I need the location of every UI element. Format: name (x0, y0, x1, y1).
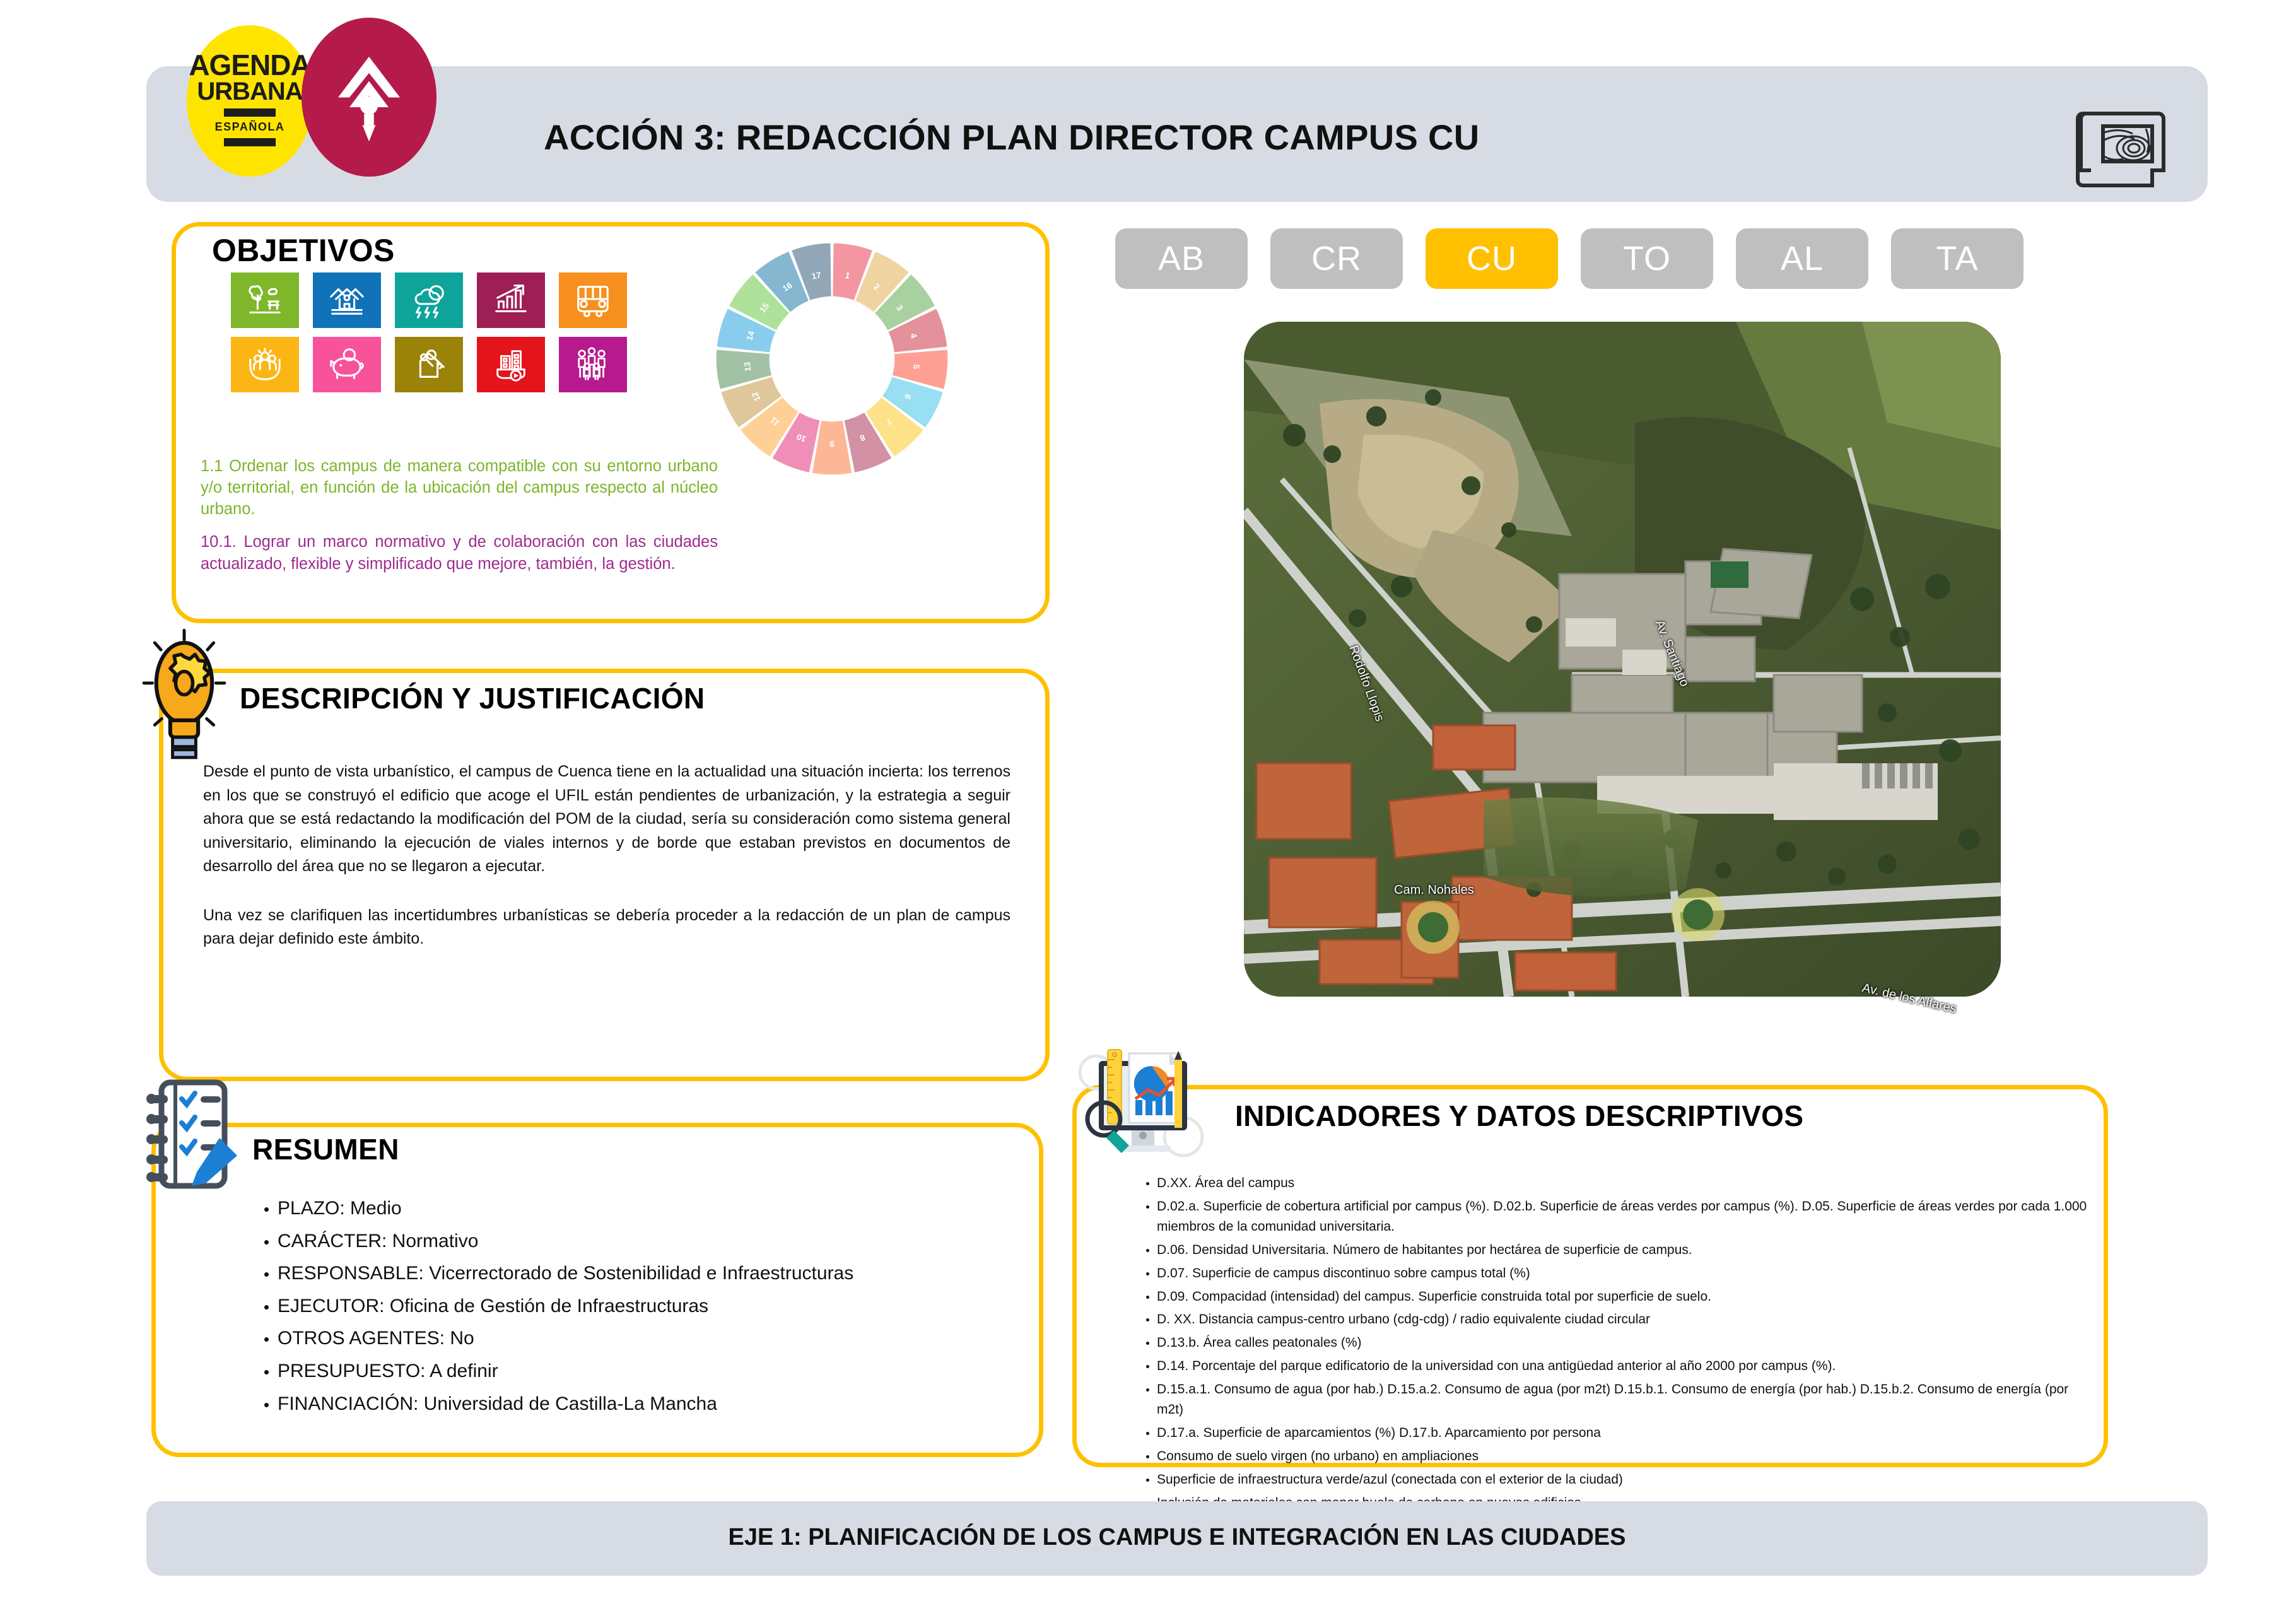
park-trees-icon (231, 272, 299, 328)
economy-growth-icon (477, 272, 545, 328)
climate-storm-icon (395, 272, 463, 328)
broadcast-icon (328, 49, 410, 146)
sdg-number-13: 13 (742, 361, 753, 372)
indicador-item: D.XX. Área del campus (1157, 1173, 2090, 1193)
descripcion-paragraph-2: Una vez se clarifiquen las incertidumbre… (203, 904, 1010, 951)
indicador-item: D. XX. Distancia campus-centro urbano (c… (1157, 1310, 2090, 1330)
objetivos-text: 1.1 Ordenar los campus de manera compati… (201, 455, 718, 586)
lightbulb-gear-icon (138, 626, 231, 761)
campus-tab-ab[interactable]: AB (1115, 228, 1248, 289)
indicador-item: D.14. Porcentaje del parque edificatorio… (1157, 1356, 2090, 1376)
governance-people-icon (559, 337, 627, 392)
mobility-bus-icon (559, 272, 627, 328)
indicador-item: D.15.a.1. Consumo de agua (por hab.) D.1… (1157, 1380, 2090, 1420)
digital-city-icon (477, 337, 545, 392)
page-title: ACCIÓN 3: REDACCIÓN PLAN DIRECTOR CAMPUS… (544, 117, 1931, 158)
resumen-title: RESUMEN (252, 1132, 399, 1166)
indicador-item: D.06. Densidad Universitaria. Número de … (1157, 1240, 2090, 1260)
descripcion-paragraph-1: Desde el punto de vista urbanístico, el … (203, 760, 1010, 879)
campus-tab-cu[interactable]: CU (1426, 228, 1558, 289)
resumen-item: OTROS AGENTES: No (278, 1322, 1034, 1355)
housing-icon (313, 272, 381, 328)
agenda-urbana-logo: AGENDA URBANA ESPAÑOLA (187, 25, 313, 177)
indicador-item: Consumo de suelo virgen (no urbano) en a… (1157, 1446, 2090, 1467)
indicador-item: D.09. Compacidad (intensidad) del campus… (1157, 1287, 2090, 1307)
campus-tab-al[interactable]: AL (1736, 228, 1868, 289)
indicador-item: Superficie de infraestructura verde/azul… (1157, 1470, 2090, 1490)
logo-divider-top (224, 108, 276, 117)
resumen-item: PRESUPUESTO: A definir (278, 1355, 1034, 1388)
monitor-chart-ruler-icon (1077, 1042, 1210, 1178)
footer-text: EJE 1: PLANIFICACIÓN DE LOS CAMPUS E INT… (146, 1524, 2208, 1551)
logo-line-2: URBANA (197, 79, 302, 104)
indicador-item: D.13.b. Área calles peatonales (%) (1157, 1333, 2090, 1353)
objetivos-title: OBJETIVOS (212, 232, 395, 269)
objetivo-1-1: 1.1 Ordenar los campus de manera compati… (201, 455, 718, 520)
resumen-item: EJECUTOR: Oficina de Gestión de Infraest… (278, 1290, 1034, 1323)
savings-piggy-icon (313, 337, 381, 392)
sdg-wheel-icon: 1234567891011121314151617 (712, 238, 952, 479)
resumen-item: RESPONSABLE: Vicerrectorado de Sostenibi… (278, 1257, 1034, 1290)
indicador-item: D.07. Superficie de campus discontinuo s… (1157, 1263, 2090, 1284)
campus-tabs[interactable]: ABCRCUTOALTA (1115, 228, 2024, 289)
logo-divider-bottom (224, 138, 276, 146)
descripcion-title: DESCRIPCIÓN Y JUSTIFICACIÓN (240, 681, 705, 715)
indicador-item: D.17.a. Superficie de aparcamientos (%) … (1157, 1423, 2090, 1443)
sdg-number-17: 17 (811, 270, 822, 281)
notepad-checklist-icon (143, 1077, 243, 1191)
objetivo-10-1: 10.1. Lograr un marco normativo y de col… (201, 531, 718, 574)
logo-line-1: AGENDA (189, 52, 310, 78)
resumen-item: CARÁCTER: Normativo (278, 1225, 1034, 1258)
social-care-icon (231, 337, 299, 392)
campus-tab-to[interactable]: TO (1581, 228, 1713, 289)
sdg-number-9: 9 (829, 439, 834, 448)
objetivos-icon-grid (231, 272, 627, 392)
resumen-item: PLAZO: Medio (278, 1192, 1034, 1225)
housing-keys-icon (395, 337, 463, 392)
broadcast-logo (302, 18, 436, 177)
indicadores-list: D.XX. Área del campusD.02.a. Superficie … (1129, 1173, 2090, 1516)
blueprint-icon (2051, 101, 2177, 208)
map-label-cam-nohales: Cam. Nohales (1394, 883, 1474, 898)
resumen-item: FINANCIACIÓN: Universidad de Castilla-La… (278, 1388, 1034, 1421)
campus-tab-ta[interactable]: TA (1891, 228, 2024, 289)
resumen-list: PLAZO: MedioCARÁCTER: NormativoRESPONSAB… (247, 1192, 1034, 1420)
campus-tab-cr[interactable]: CR (1270, 228, 1403, 289)
logo-line-3: ESPAÑOLA (215, 120, 285, 134)
indicadores-title: INDICADORES Y DATOS DESCRIPTIVOS (1235, 1099, 1803, 1133)
descripcion-text: Desde el punto de vista urbanístico, el … (203, 760, 1010, 976)
indicador-item: D.02.a. Superficie de cobertura artifici… (1157, 1197, 2090, 1237)
